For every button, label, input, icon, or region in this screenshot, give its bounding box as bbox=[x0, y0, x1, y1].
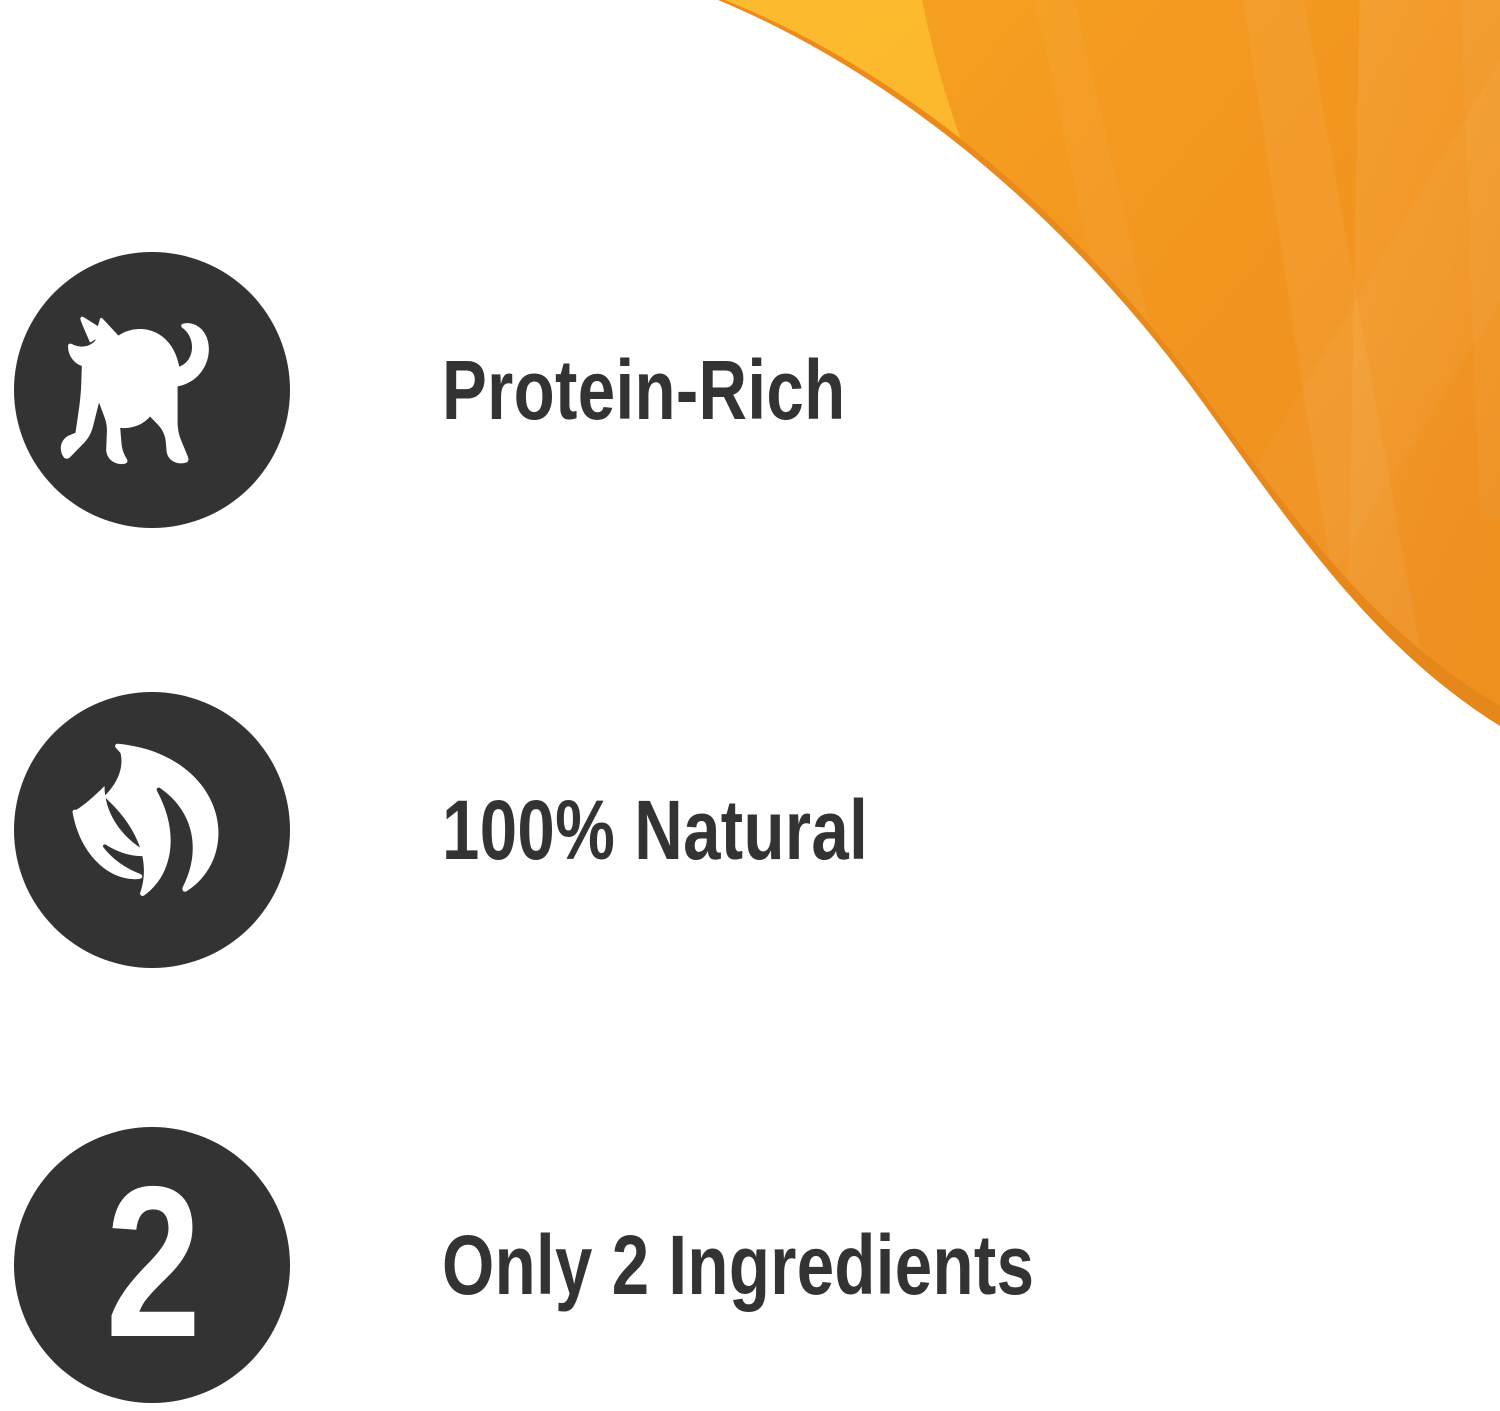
badge-protein-rich bbox=[14, 252, 290, 528]
feature-label-protein-rich: Protein-Rich bbox=[442, 348, 846, 432]
feature-label-only-2-ingredients: Only 2 Ingredients bbox=[442, 1223, 1034, 1307]
leaf-icon bbox=[46, 730, 258, 930]
number-two-icon: 2 bbox=[106, 1154, 198, 1369]
feature-badge-canvas: Protein-Rich 100% Natural 2 Only 2 Ingre… bbox=[0, 0, 1500, 1411]
badge-only-2-ingredients: 2 bbox=[14, 1127, 290, 1403]
feature-row-100-natural: 100% Natural bbox=[0, 692, 1500, 968]
badge-100-natural bbox=[14, 692, 290, 968]
feature-label-100-natural: 100% Natural bbox=[442, 788, 868, 872]
feature-row-only-2-ingredients: 2 Only 2 Ingredients bbox=[0, 1127, 1500, 1403]
cat-icon bbox=[52, 306, 252, 474]
feature-row-protein-rich: Protein-Rich bbox=[0, 252, 1500, 528]
